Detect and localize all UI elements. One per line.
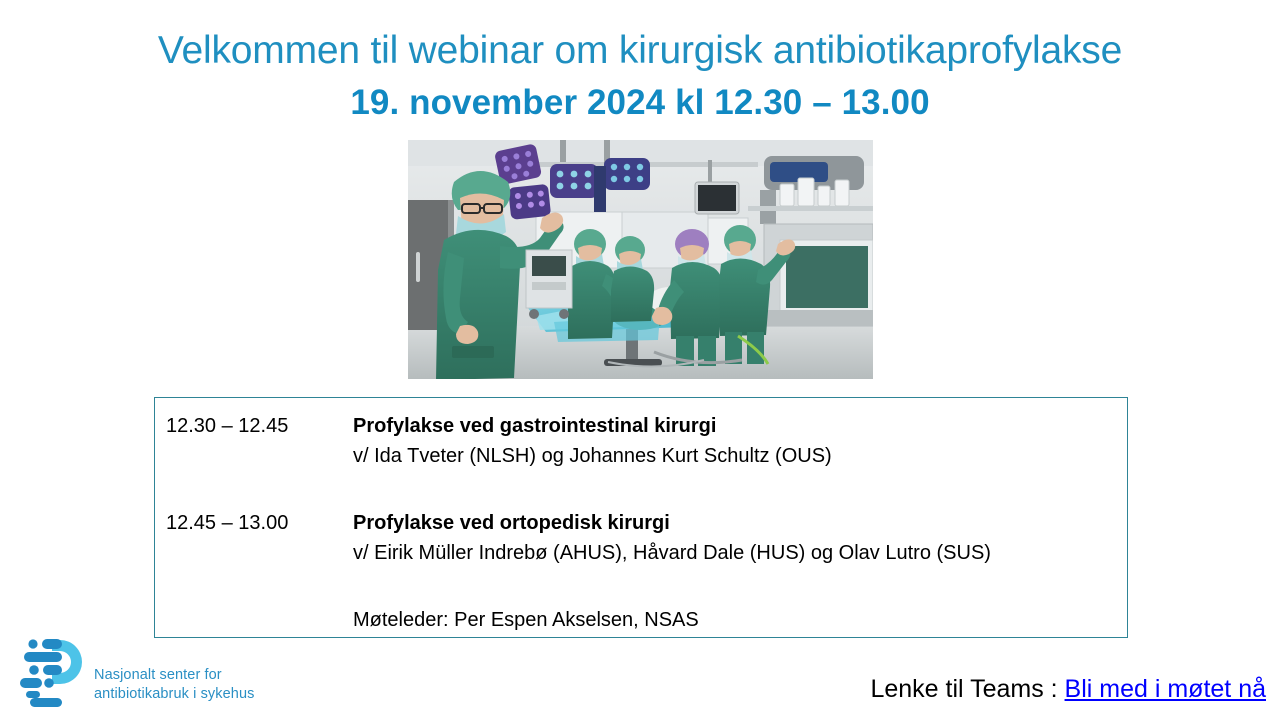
operating-room-photo	[408, 140, 873, 379]
session-title: Profylakse ved ortopedisk kirurgi	[353, 508, 1119, 538]
title-block: Velkommen til webinar om kirurgisk antib…	[0, 26, 1280, 126]
session-details: Profylakse ved ortopedisk kirurgi v/ Eir…	[353, 508, 1119, 568]
nsas-logo-text: Nasjonalt senter for antibiotikabruk i s…	[94, 666, 274, 703]
teams-link-label: Lenke til Teams :	[870, 675, 1064, 703]
join-meeting-link[interactable]: Bli med i møtet nå	[1065, 675, 1266, 703]
page-subtitle-date: 19. november 2024 kl 12.30 – 13.00	[0, 80, 1280, 126]
session-time: 12.45 – 13.00	[166, 508, 356, 538]
schedule-table: 12.30 – 12.45 Profylakse ved gastrointes…	[154, 397, 1128, 638]
chair-text: Møteleder: Per Espen Akselsen, NSAS	[353, 605, 1119, 635]
nsas-logo-text-line1: Nasjonalt senter for	[94, 666, 274, 685]
session-time: 12.30 – 12.45	[166, 411, 356, 441]
nsas-logo-mark-svg	[18, 636, 82, 708]
nsas-logo: Nasjonalt senter for antibiotikabruk i s…	[18, 636, 268, 712]
teams-link-line: Lenke til Teams : Bli med i møtet nå	[870, 672, 1266, 706]
slide-canvas: Velkommen til webinar om kirurgisk antib…	[0, 0, 1280, 720]
session-speakers: v/ Eirik Müller Indrebø (AHUS), Håvard D…	[353, 538, 1119, 568]
page-title: Velkommen til webinar om kirurgisk antib…	[0, 26, 1280, 76]
nsas-logo-text-line2: antibiotikabruk i sykehus	[94, 685, 274, 704]
chair-details: Møteleder: Per Espen Akselsen, NSAS	[353, 605, 1119, 635]
session-speakers: v/ Ida Tveter (NLSH) og Johannes Kurt Sc…	[353, 441, 1119, 471]
nsas-logo-icon	[18, 636, 82, 708]
session-title: Profylakse ved gastrointestinal kirurgi	[353, 411, 1119, 441]
session-details: Profylakse ved gastrointestinal kirurgi …	[353, 411, 1119, 471]
operating-room-illustration	[408, 140, 873, 379]
